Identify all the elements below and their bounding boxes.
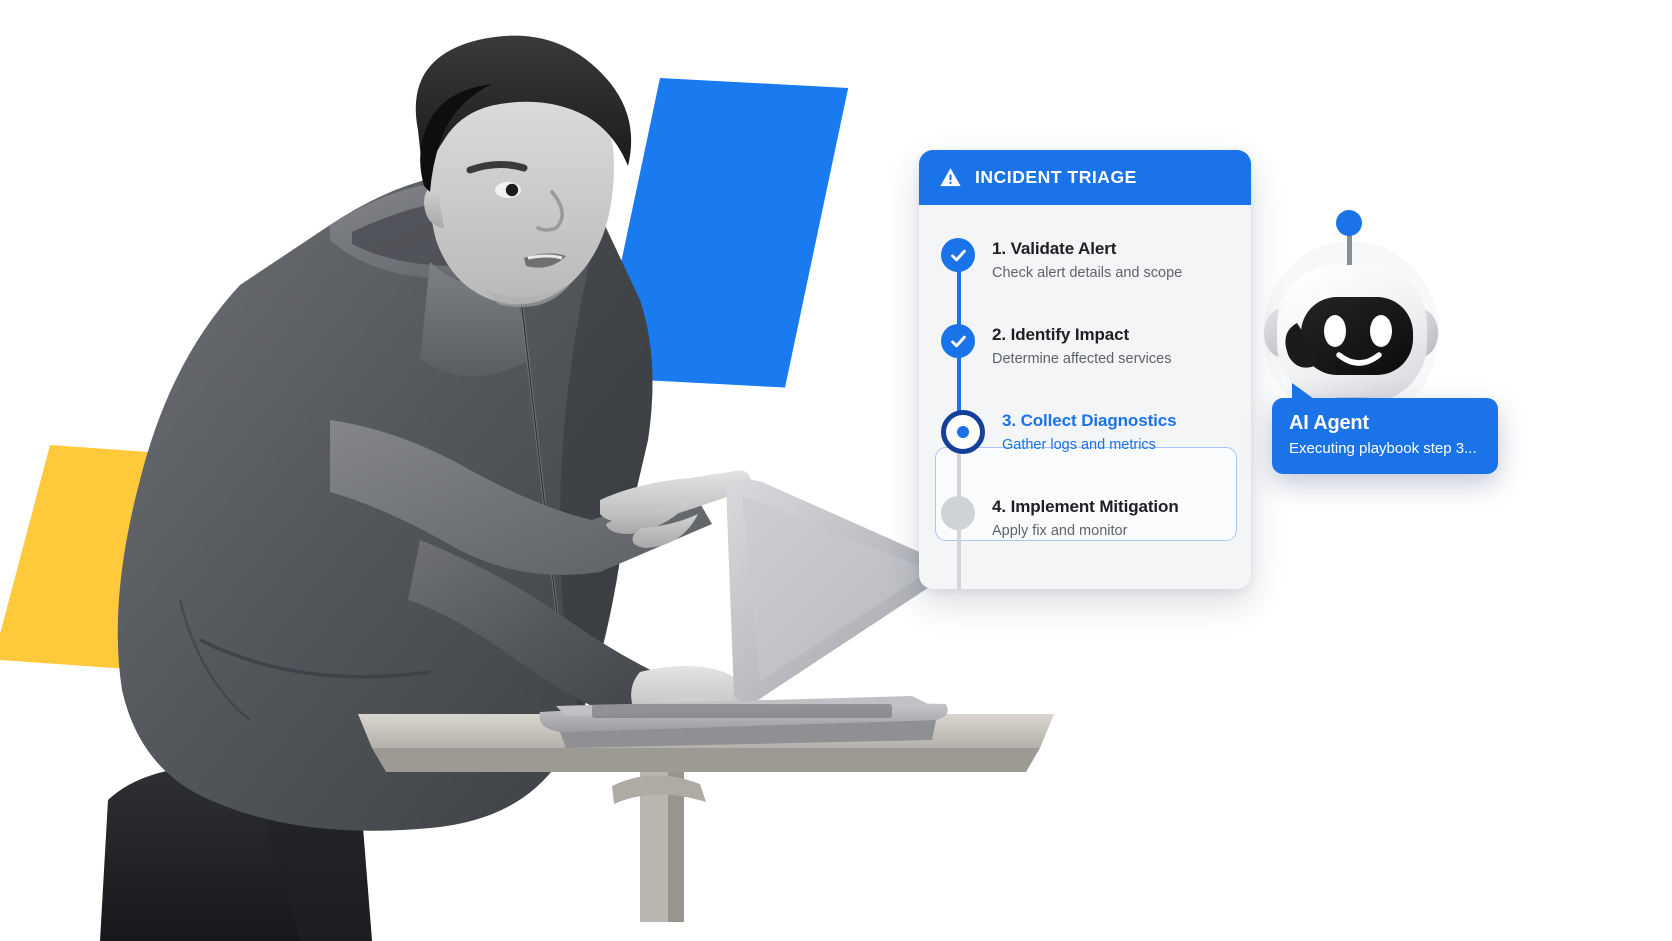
ai-agent-status: Executing playbook step 3...	[1289, 439, 1481, 458]
step-item-validate-alert[interactable]: 1. Validate Alert Check alert details an…	[919, 229, 1251, 301]
step-title: 3. Collect Diagnostics	[1002, 410, 1176, 431]
step-title: 4. Implement Mitigation	[992, 496, 1179, 517]
empty-circle-icon	[941, 496, 975, 530]
check-icon	[941, 238, 975, 272]
steps-list: 1. Validate Alert Check alert details an…	[919, 205, 1251, 589]
step-item-implement-mitigation[interactable]: 4. Implement Mitigation Apply fix and mo…	[919, 487, 1251, 559]
step-item-identify-impact[interactable]: 2. Identify Impact Determine affected se…	[919, 315, 1251, 387]
check-icon	[941, 324, 975, 358]
step-subtitle: Check alert details and scope	[992, 264, 1182, 283]
ai-agent-tooltip: AI Agent Executing playbook step 3...	[1272, 398, 1498, 474]
warning-triangle-icon	[939, 166, 962, 189]
card-title: INCIDENT TRIAGE	[975, 167, 1137, 188]
scene: INCIDENT TRIAGE 1. Validate Alert Check …	[0, 0, 1672, 941]
robot-eye-right	[1370, 315, 1392, 347]
antenna-light	[1336, 210, 1362, 236]
incident-triage-card: INCIDENT TRIAGE 1. Validate Alert Check …	[919, 150, 1251, 589]
ai-agent-robot-mascot	[1255, 205, 1450, 430]
target-dot-icon	[941, 410, 985, 454]
step-subtitle: Determine affected services	[992, 350, 1171, 369]
robot-eye-left	[1324, 315, 1346, 347]
ai-agent-title: AI Agent	[1289, 412, 1481, 435]
step-item-collect-diagnostics[interactable]: 3. Collect Diagnostics Gather logs and m…	[919, 401, 1251, 473]
step-subtitle: Apply fix and monitor	[992, 522, 1179, 541]
card-header: INCIDENT TRIAGE	[919, 150, 1251, 205]
step-subtitle: Gather logs and metrics	[1002, 436, 1176, 455]
step-title: 2. Identify Impact	[992, 324, 1171, 345]
step-title: 1. Validate Alert	[992, 238, 1182, 259]
